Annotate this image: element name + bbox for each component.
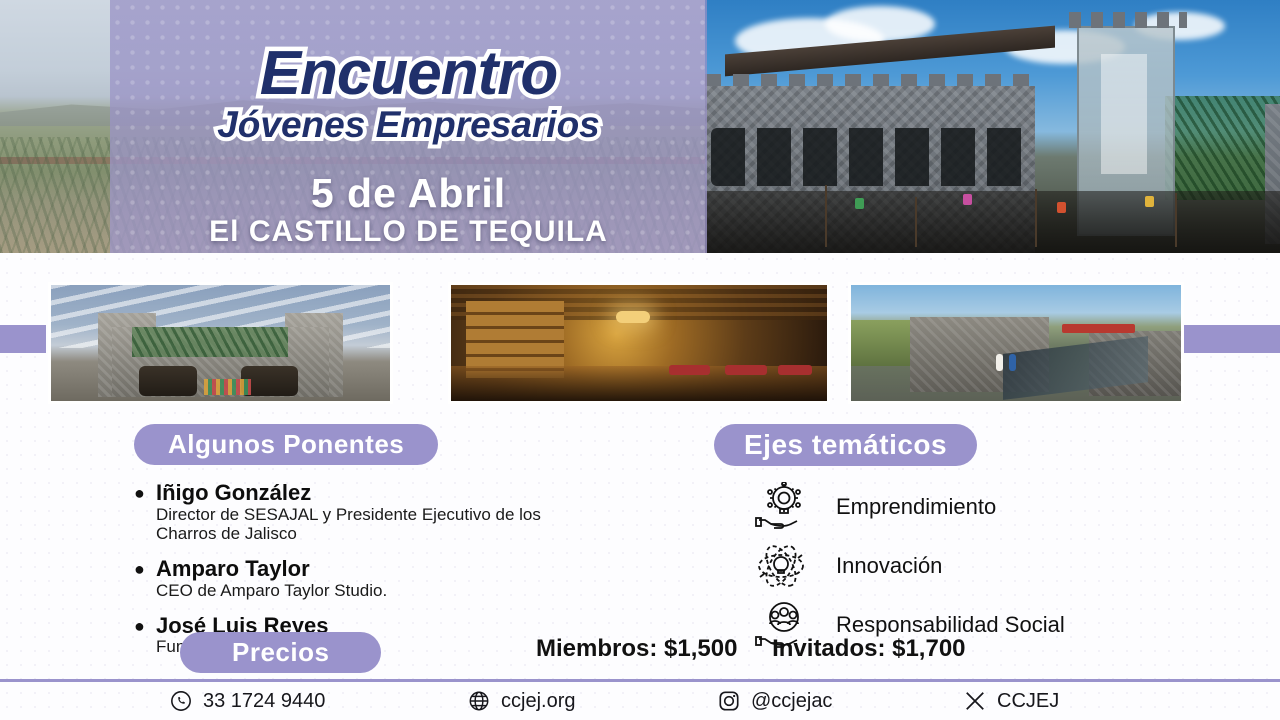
speaker-name: Amparo Taylor	[156, 557, 387, 581]
speaker-item: ● Amparo Taylor CEO de Amparo Taylor Stu…	[134, 557, 564, 600]
footer-contact-bar: 33 1724 9440 ccjej.org @ccjejac	[0, 682, 1280, 720]
themes-section: Ejes temáticos Emprendimiento	[714, 424, 1154, 660]
speakers-heading-badge: Algunos Ponentes	[134, 424, 438, 465]
speakers-list: ● Iñigo González Director de SESAJAL y P…	[134, 481, 564, 657]
photo-castle-facade-barrels	[48, 282, 393, 404]
globe-icon	[466, 688, 492, 714]
prices-heading-badge: Precios	[180, 632, 381, 673]
price-members: Miembros: $1,500	[536, 635, 737, 662]
photo-barrel-cellar-interior	[448, 282, 830, 404]
event-date: 5 de Abril	[110, 170, 707, 217]
prices-section: Precios Miembros: $1,500 Invitados: $1,7…	[0, 632, 1280, 672]
x-handle: CCJEJ	[997, 690, 1059, 713]
theme-label: Emprendimiento	[836, 495, 996, 520]
speaker-role: Director de SESAJAL y Presidente Ejecuti…	[156, 505, 564, 544]
photo-castle-aerial-glass-walkway	[848, 282, 1184, 404]
event-subtitle: Jóvenes Empresarios	[110, 106, 707, 145]
x-twitter-icon	[962, 688, 988, 714]
price-values: Miembros: $1,500 Invitados: $1,700	[536, 635, 994, 663]
hero-title-panel: Encuentro Jóvenes Empresarios 5 de Abril…	[110, 0, 707, 253]
speaker-role: CEO de Amparo Taylor Studio.	[156, 581, 387, 601]
event-title: Encuentro	[110, 44, 707, 104]
whatsapp-icon	[168, 688, 194, 714]
contact-x-twitter[interactable]: CCJEJ	[962, 688, 1059, 714]
whatsapp-number: 33 1724 9440	[203, 690, 325, 713]
bullet-icon: ●	[134, 481, 156, 544]
price-guests: Invitados: $1,700	[772, 635, 965, 662]
hand-gear-bulb-icon	[748, 482, 814, 532]
atom-bulb-icon	[748, 542, 814, 590]
instagram-icon	[716, 688, 742, 714]
photo-strip	[0, 282, 1280, 404]
speaker-item: ● Iñigo González Director de SESAJAL y P…	[134, 481, 564, 544]
contact-website[interactable]: ccjej.org	[466, 688, 575, 714]
theme-label: Innovación	[836, 554, 942, 579]
contact-instagram[interactable]: @ccjejac	[716, 688, 832, 714]
bullet-icon: ●	[134, 557, 156, 600]
theme-item: Emprendimiento	[748, 482, 1154, 532]
theme-item: Innovación	[748, 542, 1154, 590]
website-url: ccjej.org	[501, 690, 575, 713]
speaker-name: Iñigo González	[156, 481, 564, 505]
hero-castle-photo	[705, 0, 1280, 253]
themes-heading-badge: Ejes temáticos	[714, 424, 977, 466]
hero-banner: Encuentro Jóvenes Empresarios 5 de Abril…	[0, 0, 1280, 253]
themes-list: Emprendimiento Innovación	[714, 482, 1154, 650]
instagram-handle: @ccjejac	[751, 690, 832, 713]
event-venue: El CASTILLO DE TEQUILA	[110, 215, 707, 249]
contact-whatsapp[interactable]: 33 1724 9440	[168, 688, 325, 714]
